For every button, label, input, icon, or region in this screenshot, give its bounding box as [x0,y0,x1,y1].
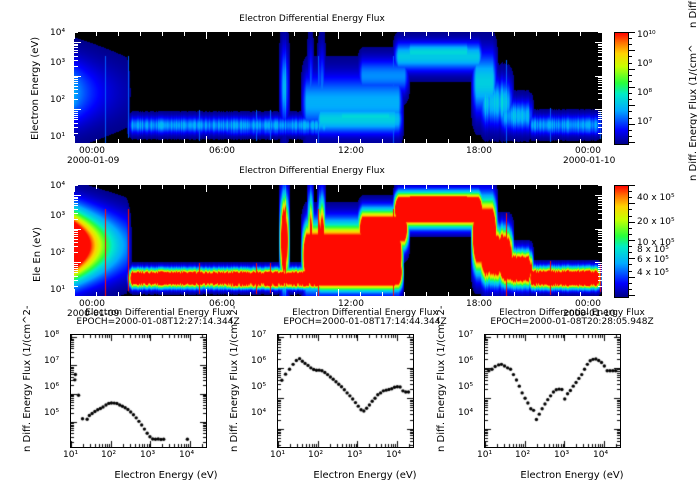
panel-1-plot-area[interactable] [74,32,602,143]
colorbar-tick [628,185,635,186]
axis-tick [598,117,602,118]
axis-tick [598,213,602,214]
panel-1-xtick-3: 18:00 [466,146,492,156]
axis-tick [74,239,78,240]
panel-1-xtick-4: 00:00 [575,146,601,156]
panel-5-xtick-2: 10³ [554,450,569,460]
axis-tick [382,185,383,189]
colorbar-tick [628,277,635,278]
axis-tick [316,139,317,143]
axis-tick [598,81,602,82]
axis-tick [316,185,317,189]
panel-1-ztick-0: 10¹⁰ [637,30,656,40]
panel-1-ztick-2: 10⁸ [637,88,652,98]
panel-1-colorbar [614,32,629,145]
axis-tick [598,197,602,198]
panel-4-ytick-1: 10⁶ [251,356,266,366]
axis-tick [74,83,78,84]
axis-tick [74,123,78,124]
axis-tick [598,111,602,112]
axis-tick [184,292,185,296]
axis-tick [448,32,449,36]
panel-2-colorbar-label: n Diff. Energy Flux (1/(cm^ [688,44,697,181]
axis-tick [598,209,602,210]
axis-tick [598,268,602,269]
axis-tick [426,139,427,143]
axis-tick [250,292,251,296]
colorbar-tick [628,32,635,33]
panel-3-ytick-1: 10⁷ [44,356,59,366]
axis-tick [74,136,75,143]
axis-tick [74,270,78,271]
panel-4-xtick-0: 10¹ [270,450,285,460]
axis-tick [74,209,78,210]
axis-tick [598,89,602,90]
axis-tick [74,262,81,263]
colorbar-tick [628,44,632,45]
colorbar-tick [628,289,632,290]
axis-tick [598,234,602,235]
axis-tick [162,292,163,296]
axis-tick [404,292,405,296]
axis-tick [598,266,602,267]
axis-tick [74,111,78,112]
panel-4-xtick-1: 10² [308,450,323,460]
colorbar-tick [628,63,632,64]
axis-tick [536,292,537,296]
panel-2-ylabel: Ele En (eV) [32,227,43,282]
axis-tick [74,219,78,220]
axis-tick [250,32,251,36]
panel-5-plot-area[interactable] [484,334,621,448]
axis-tick [404,139,405,143]
axis-tick [338,289,339,296]
axis-tick [74,280,78,281]
axis-tick [118,292,119,296]
colorbar-tick [628,56,632,57]
axis-tick [294,185,295,189]
panel-2-ztick-3: 8 x 10⁵ [637,245,669,255]
axis-tick [74,44,78,45]
axis-tick [96,139,97,143]
axis-tick [74,272,78,273]
axis-tick [602,136,603,143]
axis-tick [470,289,471,296]
panel-4-subtitle: EPOCH=2000-01-08T17:14:44.344Z [245,317,485,327]
axis-tick [228,139,229,143]
panel-3-xtick-3: 10⁴ [179,450,194,460]
axis-tick [74,86,78,87]
panel-1-xtick-sub-4: 2000-01-10 [563,156,615,166]
colorbar-tick [628,258,635,259]
axis-tick [140,139,141,143]
panel-3-plot-area[interactable] [70,334,207,448]
axis-tick [595,76,602,77]
axis-tick [598,272,602,273]
panel-1-title: Electron Differential Energy Flux [182,14,442,24]
axis-tick [74,50,78,51]
axis-tick [598,203,602,204]
axis-tick [74,234,78,235]
axis-tick [228,185,229,189]
axis-tick [404,185,405,189]
panel-5-xtick-1: 10² [515,450,530,460]
panel-3-xtick-0: 10¹ [63,450,78,460]
panel-2-ytick-3: 10¹ [50,285,65,295]
axis-tick [294,292,295,296]
axis-tick [74,198,78,199]
axis-tick [360,32,361,36]
panel-5-subtitle: EPOCH=2000-01-08T20:28:05.948Z [452,317,692,327]
panel-2-plot-area[interactable] [74,185,602,296]
axis-tick [184,139,185,143]
axis-tick [598,115,602,116]
panel-4-xlabel: Electron Energy (eV) [285,470,445,481]
panel-3-xlabel: Electron Energy (eV) [86,470,246,481]
axis-tick [74,119,78,120]
axis-tick [492,292,493,296]
panel-5-xtick-3: 10⁴ [593,450,608,460]
panel-3-ytick-0: 10⁸ [44,330,59,340]
axis-tick [536,32,537,36]
panel-1-ytick-2: 10² [50,95,65,105]
axis-tick [492,139,493,143]
axis-tick [514,292,515,296]
axis-tick [514,32,515,36]
axis-tick [74,230,78,231]
axis-tick [426,292,427,296]
colorbar-tick [628,124,635,125]
axis-tick [74,66,78,67]
axis-tick [74,296,81,297]
axis-tick [74,289,75,296]
axis-tick [492,185,493,189]
axis-tick [118,185,119,189]
axis-tick [382,32,383,36]
axis-tick [74,286,78,287]
axis-tick [598,45,602,46]
axis-tick [162,32,163,36]
axis-tick [96,292,97,296]
axis-tick [426,32,427,36]
axis-tick [598,133,602,134]
axis-tick [74,99,78,100]
axis-tick [74,200,78,201]
axis-tick [360,292,361,296]
panel-1-ytick-1: 10³ [50,58,65,68]
axis-tick [74,197,78,198]
axis-tick [272,139,273,143]
axis-tick [598,52,602,53]
axis-tick [74,205,78,206]
colorbar-tick [628,197,632,198]
axis-tick [74,203,78,204]
axis-tick [598,79,602,80]
colorbar-tick [628,93,632,94]
panel-4-ylabel: n Diff. Energy Flux (1/(cm^2- [229,305,240,452]
axis-tick [118,32,119,36]
axis-tick [74,79,78,80]
axis-tick [595,195,602,196]
axis-tick [558,32,559,36]
axis-tick [595,42,602,43]
axis-tick [598,232,602,233]
axis-tick [580,139,581,143]
colorbar-tick [628,271,632,272]
panel-3-xtick-2: 10³ [140,450,155,460]
axis-tick [338,136,339,143]
axis-tick [598,264,602,265]
axis-tick [272,185,273,189]
panel-1-ztick-3: 10⁷ [637,117,652,127]
axis-tick [514,185,515,189]
axis-tick [470,32,471,39]
axis-tick [602,289,603,296]
axis-tick [74,89,78,90]
axis-tick [580,292,581,296]
colorbar-tick [628,99,632,100]
axis-tick [558,185,559,189]
axis-tick [598,280,602,281]
colorbar-tick [628,209,632,210]
axis-tick [598,83,602,84]
axis-tick [316,292,317,296]
panel-5-ytick-1: 10⁶ [458,356,473,366]
panel-2-ztick-1: 20 x 10⁵ [637,217,675,227]
panel-2-ytick-0: 10⁴ [50,181,65,191]
axis-tick [598,113,602,114]
colorbar-tick [628,75,632,76]
axis-tick [598,219,602,220]
axis-tick [595,109,602,110]
colorbar-tick [628,203,635,204]
colorbar-tick [628,118,632,119]
axis-tick [228,292,229,296]
axis-tick [74,252,78,253]
axis-tick [598,200,602,201]
axis-tick [74,133,78,134]
axis-tick [470,136,471,143]
axis-tick [74,76,81,77]
axis-tick [598,127,602,128]
colorbar-tick [628,240,635,241]
axis-tick [598,242,602,243]
axis-tick [595,143,602,144]
panel-4-ytick-3: 10⁴ [251,408,266,418]
panel-5-ytick-0: 10⁷ [458,330,473,340]
axis-tick [74,113,78,114]
axis-tick [74,264,78,265]
panel-2-colorbar [614,185,629,298]
axis-tick [74,93,78,94]
axis-tick [74,109,81,110]
axis-tick [382,292,383,296]
axis-tick [294,32,295,36]
colorbar-tick [628,81,632,82]
panel-1-xtick-0: 00:00 [79,146,105,156]
axis-tick [404,32,405,36]
axis-tick [598,66,602,67]
panel-5-xlabel: Electron Energy (eV) [492,470,652,481]
axis-tick [598,56,602,57]
axis-tick [598,276,602,277]
axis-tick [74,47,78,48]
axis-tick [74,242,78,243]
axis-tick [118,139,119,143]
panel-4-ytick-2: 10⁵ [251,382,266,392]
axis-tick [272,292,273,296]
axis-tick [598,205,602,206]
colorbar-tick [628,191,632,192]
axis-tick [140,185,141,189]
axis-tick [598,50,602,51]
axis-tick [162,185,163,189]
axis-tick [448,139,449,143]
axis-tick [598,239,602,240]
axis-tick [598,270,602,271]
colorbar-tick [628,136,632,137]
axis-tick [74,56,78,57]
axis-tick [595,262,602,263]
axis-tick [598,60,602,61]
axis-tick [74,268,78,269]
axis-tick [598,77,602,78]
axis-tick [74,236,78,237]
panel-2-title: Electron Differential Energy Flux [182,166,442,176]
panel-3-ytick-3: 10⁵ [44,408,59,418]
axis-tick [74,143,81,144]
axis-tick [74,232,78,233]
panel-4-xtick-2: 10³ [347,450,362,460]
colorbar-tick [628,283,632,284]
panel-2-ztick-5: 4 x 10⁵ [637,268,669,278]
colorbar-tick [628,295,635,296]
panel-2-ytick-2: 10² [50,248,65,258]
axis-tick [598,230,602,231]
axis-tick [598,252,602,253]
axis-tick [360,185,361,189]
panel-5-ytick-3: 10⁴ [458,408,473,418]
colorbar-tick [628,222,635,223]
axis-tick [598,47,602,48]
colorbar-tick [628,69,635,70]
panel-1-colorbar-label: n Diff. Energy Flux (1/(cm^ [688,0,697,28]
axis-tick [536,185,537,189]
axis-tick [595,229,602,230]
axis-tick [96,185,97,189]
axis-tick [140,292,141,296]
panel-3-ylabel: n Diff. Energy Flux (1/(cm^2- [22,305,33,452]
axis-tick [598,198,602,199]
panel-1-ytick-3: 10¹ [50,132,65,142]
panel-1-xtick-sub-0: 2000-01-09 [67,156,119,166]
axis-tick [294,139,295,143]
colorbar-tick [628,111,632,112]
axis-tick [536,139,537,143]
panel-4-xtick-3: 10⁴ [386,450,401,460]
axis-tick [598,246,602,247]
panel-1-ztick-1: 10⁹ [637,59,652,69]
colorbar-tick [628,228,632,229]
axis-tick [74,81,78,82]
axis-tick [140,32,141,36]
axis-tick [558,139,559,143]
axis-tick [598,86,602,87]
colorbar-tick [628,50,635,51]
axis-tick [74,185,75,192]
axis-tick [74,77,78,78]
axis-tick [426,185,427,189]
panel-3-xtick-1: 10² [101,450,116,460]
axis-tick [184,185,185,189]
axis-tick [74,60,78,61]
colorbar-tick [628,87,635,88]
axis-tick [74,213,78,214]
axis-tick [580,185,581,189]
axis-tick [595,296,602,297]
axis-tick [448,292,449,296]
axis-tick [206,136,207,143]
axis-tick [74,195,81,196]
axis-tick [470,185,471,192]
panel-1-xtick-1: 06:00 [209,146,235,156]
panel-4-ytick-0: 10⁷ [251,330,266,340]
panel-1-ytick-0: 10⁴ [50,28,65,38]
axis-tick [492,32,493,36]
axis-tick [206,185,207,192]
axis-tick [74,266,78,267]
axis-tick [206,32,207,39]
axis-tick [598,236,602,237]
axis-tick [74,32,75,39]
panel-3-subtitle: EPOCH=2000-01-08T12:27:14.344Z [38,317,278,327]
axis-tick [360,139,361,143]
axis-tick [74,246,78,247]
axis-tick [598,93,602,94]
axis-tick [558,292,559,296]
axis-tick [74,45,78,46]
axis-tick [74,42,81,43]
colorbar-tick [628,264,632,265]
axis-tick [272,32,273,36]
axis-tick [382,139,383,143]
panel-1-ylabel: Electron Energy (eV) [30,37,41,140]
panel-2-ztick-0: 40 x 10⁵ [637,193,675,203]
axis-tick [74,229,81,230]
axis-tick [598,286,602,287]
colorbar-tick [628,142,635,143]
axis-tick [316,32,317,36]
colorbar-tick [628,130,632,131]
axis-tick [580,32,581,36]
panel-5-xtick-0: 10¹ [477,450,492,460]
axis-tick [514,139,515,143]
panel-3-ytick-2: 10⁶ [44,382,59,392]
axis-tick [602,32,603,39]
panel-5-ytick-2: 10⁵ [458,382,473,392]
axis-tick [338,185,339,192]
axis-tick [598,123,602,124]
panel-5-ylabel: n Diff. Energy Flux (1/(cm^2- [436,305,447,452]
colorbar-tick [628,216,632,217]
axis-tick [250,185,251,189]
axis-tick [448,185,449,189]
axis-tick [338,32,339,39]
axis-tick [74,115,78,116]
panel-4-plot-area[interactable] [277,334,414,448]
axis-tick [162,139,163,143]
panel-2-ztick-4: 6 x 10⁵ [637,255,669,265]
